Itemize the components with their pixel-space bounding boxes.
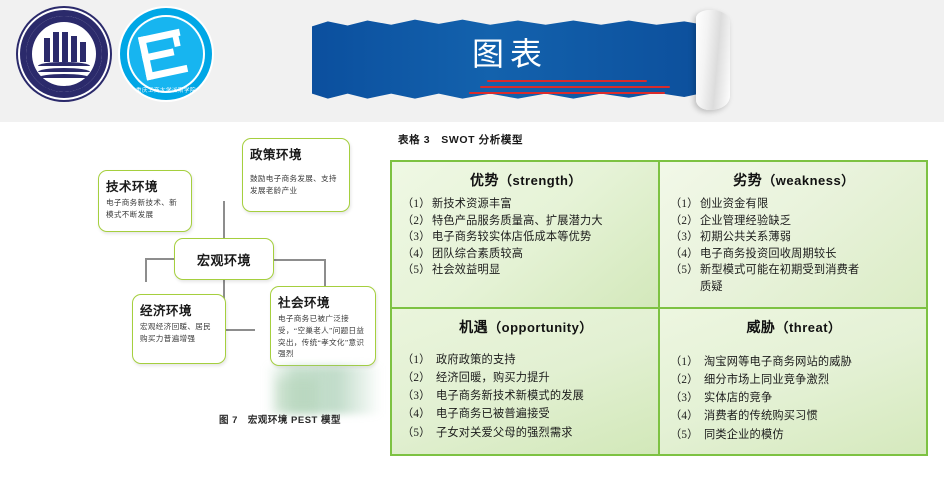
item-number: （3） — [402, 387, 436, 405]
item-number: （4） — [670, 407, 704, 425]
swot-item-list: （1）政府政策的支持 （2）经济回暖，购买力提升 （3）电子商务新技术新模式的发… — [402, 351, 650, 442]
pest-box-policy: 政策环境 鼓励电子商务发展、支持发展老龄产业 — [242, 138, 350, 212]
item-number: （5） — [670, 262, 700, 279]
watermark-smudge-secondary — [276, 378, 318, 412]
pest-caption: 图 7 宏观环境 PEST 模型 — [180, 412, 380, 426]
list-item: （2）企业管理经验缺乏 — [670, 213, 918, 230]
connector-social-v — [324, 259, 326, 287]
list-item: （5）子女对关爱父母的强烈需求 — [402, 424, 650, 442]
item-text-line1: 新型模式可能在初期受到消费者 — [700, 264, 859, 276]
item-number: （1） — [402, 196, 432, 213]
logo-secondary-cn-text: 重庆工商大学派斯学院 — [118, 86, 214, 94]
swot-title-cn: 劣势 — [733, 174, 762, 189]
item-text: 经济回暖，购买力提升 — [436, 369, 650, 387]
item-text: 电子商务新技术新模式的发展 — [436, 387, 650, 405]
item-number: （4） — [670, 246, 700, 263]
item-text: 企业管理经验缺乏 — [700, 213, 918, 230]
swot-cell-strength: 优势（strength） （1）新技术资源丰富 （2）特色产品服务质量高、扩展潜… — [391, 161, 659, 308]
pest-box-detail: 电子商务已被广泛接受，“空巢老人”问题日益突出，传统“孝文化”意识强烈 — [278, 313, 368, 360]
item-text: 电子商务已被普遍接受 — [436, 405, 650, 423]
swot-title-en: （weakness） — [762, 173, 854, 188]
pest-box-detail: 电子商务新技术、新模式不断发展 — [106, 197, 184, 221]
item-number: （3） — [670, 229, 700, 246]
university-logo-secondary: 重庆工商大学派斯学院 — [118, 6, 214, 102]
connector-social-h — [274, 259, 326, 261]
swot-title-cn: 威胁 — [746, 321, 775, 336]
item-number: （5） — [670, 426, 704, 444]
item-number: （2） — [670, 371, 704, 389]
list-item: （1）淘宝网等电子商务网站的威胁 — [670, 353, 918, 371]
list-item: （3）初期公共关系薄弱 — [670, 229, 918, 246]
item-text: 初期公共关系薄弱 — [700, 229, 918, 246]
item-text: 社会效益明显 — [432, 262, 650, 279]
swot-title-cn: 机遇 — [459, 321, 488, 336]
item-text: 政府政策的支持 — [436, 351, 650, 369]
pest-box-title: 技术环境 — [106, 176, 184, 195]
swot-title-en: （opportunity） — [488, 320, 593, 335]
item-number: （2） — [402, 369, 436, 387]
pest-diagram: 技术环境 电子商务新技术、新模式不断发展 政策环境 鼓励电子商务发展、支持发展老… — [80, 126, 390, 446]
item-number: （5） — [402, 424, 436, 442]
list-item: （4）消费者的传统购买习惯 — [670, 407, 918, 425]
swot-caption: 表格 3 SWOT 分析模型 — [398, 132, 930, 147]
item-text: 淘宝网等电子商务网站的威胁 — [704, 353, 918, 371]
pest-box-title: 政策环境 — [250, 144, 342, 163]
item-text: 特色产品服务质量高、扩展潜力大 — [432, 213, 650, 230]
title-banner: 图表 — [312, 8, 730, 114]
swot-item-list: （1）新技术资源丰富 （2）特色产品服务质量高、扩展潜力大 （3）电子商务较实体… — [402, 196, 650, 279]
list-item: （3）实体店的竞争 — [670, 389, 918, 407]
list-item: （1）新技术资源丰富 — [402, 196, 650, 213]
swot-cell-weakness: 劣势（weakness） （1）创业资金有限 （2）企业管理经验缺乏 （3）初期… — [659, 161, 927, 308]
swot-table: 优势（strength） （1）新技术资源丰富 （2）特色产品服务质量高、扩展潜… — [390, 160, 928, 456]
list-item: （2）经济回暖，购买力提升 — [402, 369, 650, 387]
connector-econ-h — [223, 329, 255, 331]
pest-box-detail: 宏观经济回暖、居民购买力普遍增强 — [140, 321, 218, 345]
item-text: 新技术资源丰富 — [432, 196, 650, 213]
item-number: （1） — [670, 196, 700, 213]
item-number: （2） — [402, 213, 432, 230]
item-number: （3） — [402, 229, 432, 246]
header-band: 重庆工商大学 重庆工商大学派斯学院 图表 — [0, 0, 944, 122]
list-item: （1）创业资金有限 — [670, 196, 918, 213]
title-underline-1 — [487, 80, 647, 82]
connector-tech-h — [145, 258, 175, 260]
connector-tech-v — [145, 258, 147, 282]
list-item: （3）电子商务较实体店低成本等优势 — [402, 229, 650, 246]
pest-box-detail: 鼓励电子商务发展、支持发展老龄产业 — [250, 173, 342, 197]
pest-box-economy: 经济环境 宏观经济回暖、居民购买力普遍增强 — [132, 294, 226, 364]
list-item: （5）新型模式可能在初期受到消费者质疑 — [670, 262, 918, 295]
swot-cell-title: 威胁（threat） — [670, 317, 918, 337]
swot-cell-threat: 威胁（threat） （1）淘宝网等电子商务网站的威胁 （2）细分市场上同业竞争… — [659, 308, 927, 455]
list-item: （4）团队综合素质较高 — [402, 246, 650, 263]
item-text: 实体店的竞争 — [704, 389, 918, 407]
item-number: （1） — [402, 351, 436, 369]
list-item: （4）电子商务已被普遍接受 — [402, 405, 650, 423]
item-number: （1） — [670, 353, 704, 371]
item-text: 子女对关爱父母的强烈需求 — [436, 424, 650, 442]
pest-box-center: 宏观环境 — [174, 238, 274, 280]
list-item: （3）电子商务新技术新模式的发展 — [402, 387, 650, 405]
pest-box-technology: 技术环境 电子商务新技术、新模式不断发展 — [98, 170, 192, 232]
item-text-line2: 质疑 — [700, 279, 918, 296]
item-text: 电子商务较实体店低成本等优势 — [432, 229, 650, 246]
swot-cell-title: 劣势（weakness） — [670, 170, 918, 190]
item-number: （3） — [670, 389, 704, 407]
item-text: 团队综合素质较高 — [432, 246, 650, 263]
list-item: （2）特色产品服务质量高、扩展潜力大 — [402, 213, 650, 230]
item-number: （4） — [402, 246, 432, 263]
title-underline-3 — [469, 92, 665, 94]
swot-section: 表格 3 SWOT 分析模型 优势（strength） （1）新技术资源丰富 （… — [390, 126, 930, 460]
pest-box-society: 社会环境 电子商务已被广泛接受，“空巢老人”问题日益突出，传统“孝文化”意识强烈 — [270, 286, 376, 366]
item-number: （4） — [402, 405, 436, 423]
swot-title-cn: 优势 — [470, 174, 499, 189]
item-text: 创业资金有限 — [700, 196, 918, 213]
item-number: （5） — [402, 262, 432, 279]
logo-primary-cn-text: 重庆工商大学 — [16, 84, 112, 93]
item-text: 同类企业的模仿 — [704, 426, 918, 444]
item-text: 新型模式可能在初期受到消费者质疑 — [700, 262, 918, 295]
item-text: 消费者的传统购买习惯 — [704, 407, 918, 425]
item-text: 细分市场上同业竞争激烈 — [704, 371, 918, 389]
building-bars-icon — [44, 32, 84, 62]
swot-title-en: （threat） — [775, 320, 841, 335]
list-item: （1）政府政策的支持 — [402, 351, 650, 369]
banner-paper-curl — [696, 10, 730, 110]
pest-center-title: 宏观环境 — [197, 250, 251, 269]
list-item: （2）细分市场上同业竞争激烈 — [670, 371, 918, 389]
swot-cell-title: 优势（strength） — [402, 170, 650, 190]
pest-box-title: 社会环境 — [278, 292, 368, 311]
swot-cell-title: 机遇（opportunity） — [402, 317, 650, 337]
swot-cell-opportunity: 机遇（opportunity） （1）政府政策的支持 （2）经济回暖，购买力提升… — [391, 308, 659, 455]
swot-item-list: （1）创业资金有限 （2）企业管理经验缺乏 （3）初期公共关系薄弱 （4）电子商… — [670, 196, 918, 295]
university-logo-primary: 重庆工商大学 — [16, 6, 112, 102]
title-underline-2 — [480, 86, 670, 88]
wave-icon — [38, 62, 90, 80]
pest-box-title: 经济环境 — [140, 300, 218, 319]
page-title: 图表 — [312, 18, 708, 102]
item-number: （2） — [670, 213, 700, 230]
list-item: （4）电子商务投资回收周期较长 — [670, 246, 918, 263]
swot-title-en: （strength） — [499, 173, 582, 188]
list-item: （5）同类企业的模仿 — [670, 426, 918, 444]
swot-item-list: （1）淘宝网等电子商务网站的威胁 （2）细分市场上同业竞争激烈 （3）实体店的竞… — [670, 353, 918, 444]
item-text: 电子商务投资回收周期较长 — [700, 246, 918, 263]
list-item: （5）社会效益明显 — [402, 262, 650, 279]
